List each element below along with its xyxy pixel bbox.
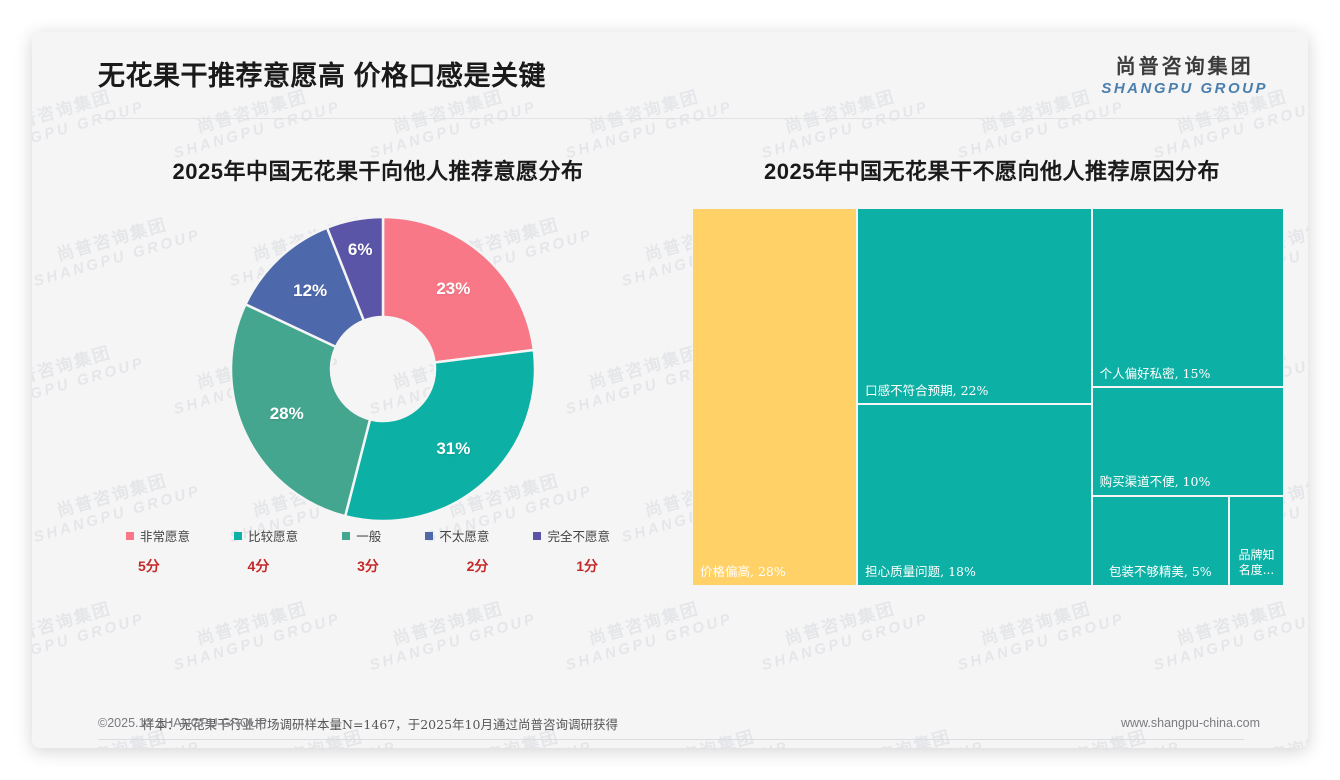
donut-slice[interactable] — [345, 350, 535, 521]
legend-item[interactable]: 非常愿意 — [126, 526, 190, 545]
donut-slice-label: 6% — [348, 240, 373, 260]
legend-score: 1分 — [576, 556, 598, 576]
treemap-cell-label: 购买渠道不便, 10% — [1100, 474, 1211, 490]
donut-svg — [218, 204, 548, 534]
treemap-chart-title: 2025年中国无花果干不愿向他人推荐原因分布 — [692, 154, 1292, 186]
website-link[interactable]: www.shangpu-china.com — [1121, 716, 1260, 730]
legend-label: 非常愿意 — [140, 526, 190, 545]
header-divider — [98, 118, 1244, 119]
legend-score: 2分 — [467, 556, 489, 576]
treemap-cell-label: 口感不符合预期, 22% — [865, 383, 988, 399]
legend-score: 5分 — [138, 556, 160, 576]
donut-score-row: 5分4分3分2分1分 — [98, 556, 638, 576]
brand-logo: 尚普咨询集团 SHANGPU GROUP — [1101, 50, 1268, 97]
page-title: 无花果干推荐意愿高 价格口感是关键 — [98, 54, 546, 93]
legend-swatch-icon — [126, 532, 134, 540]
treemap-cell[interactable]: 价格偏高, 28% — [692, 208, 857, 586]
treemap-chart: 价格偏高, 28%口感不符合预期, 22%担心质量问题, 18%个人偏好私密, … — [692, 208, 1284, 586]
treemap-chart-panel: 2025年中国无花果干不愿向他人推荐原因分布 价格偏高, 28%口感不符合预期,… — [692, 154, 1292, 684]
legend-swatch-icon — [342, 532, 350, 540]
donut-chart: 23%31%28%12%6% — [98, 204, 668, 549]
treemap-cell-label: 包装不够精美, 5% — [1093, 564, 1228, 580]
legend-label: 不太愿意 — [439, 526, 489, 545]
legend-label: 完全不愿意 — [547, 526, 610, 545]
legend-label: 比较愿意 — [248, 526, 298, 545]
logo-chinese-text: 尚普咨询集团 — [1101, 50, 1268, 79]
slide-footer: ©2025.12 SHANGPU GROUP www.shangpu-china… — [32, 704, 1308, 748]
logo-english-text: SHANGPU GROUP — [1101, 80, 1268, 97]
legend-item[interactable]: 完全不愿意 — [533, 526, 610, 545]
treemap-cell[interactable]: 担心质量问题, 18% — [857, 404, 1091, 586]
slide-card: 尚普咨询集团SHANGPU GROUP尚普咨询集团SHANGPU GROUP尚普… — [32, 32, 1308, 748]
legend-item[interactable]: 不太愿意 — [425, 526, 489, 545]
treemap-cell[interactable]: 品牌知名度... — [1229, 496, 1284, 586]
treemap-cell[interactable]: 口感不符合预期, 22% — [857, 208, 1091, 404]
slide-header: 无花果干推荐意愿高 价格口感是关键 尚普咨询集团 SHANGPU GROUP — [32, 32, 1308, 120]
treemap-cell-label: 担心质量问题, 18% — [865, 564, 976, 580]
legend-item[interactable]: 一般 — [342, 526, 381, 545]
donut-legend: 非常愿意比较愿意一般不太愿意完全不愿意 — [98, 526, 638, 545]
treemap-cell[interactable]: 包装不够精美, 5% — [1092, 496, 1229, 586]
legend-score: 4分 — [248, 556, 270, 576]
treemap-cell[interactable]: 购买渠道不便, 10% — [1092, 387, 1284, 495]
donut-slice-label: 12% — [293, 281, 327, 301]
legend-item[interactable]: 比较愿意 — [234, 526, 298, 545]
treemap-cell-label: 品牌知名度... — [1230, 548, 1283, 579]
copyright-text: ©2025.12 SHANGPU GROUP — [98, 716, 267, 730]
treemap-cell-label: 个人偏好私密, 15% — [1100, 366, 1211, 382]
donut-slice-label: 28% — [270, 404, 304, 424]
legend-swatch-icon — [425, 532, 433, 540]
legend-swatch-icon — [533, 532, 541, 540]
legend-label: 一般 — [356, 526, 381, 545]
treemap-cell[interactable]: 个人偏好私密, 15% — [1092, 208, 1284, 387]
treemap-cell-label: 价格偏高, 28% — [700, 564, 786, 580]
legend-score: 3分 — [357, 556, 379, 576]
donut-slice-label: 23% — [436, 279, 470, 299]
donut-chart-title: 2025年中国无花果干向他人推荐意愿分布 — [88, 154, 668, 186]
donut-slice-label: 31% — [436, 439, 470, 459]
donut-chart-panel: 2025年中国无花果干向他人推荐意愿分布 23%31%28%12%6% 非常愿意… — [98, 154, 668, 684]
legend-swatch-icon — [234, 532, 242, 540]
